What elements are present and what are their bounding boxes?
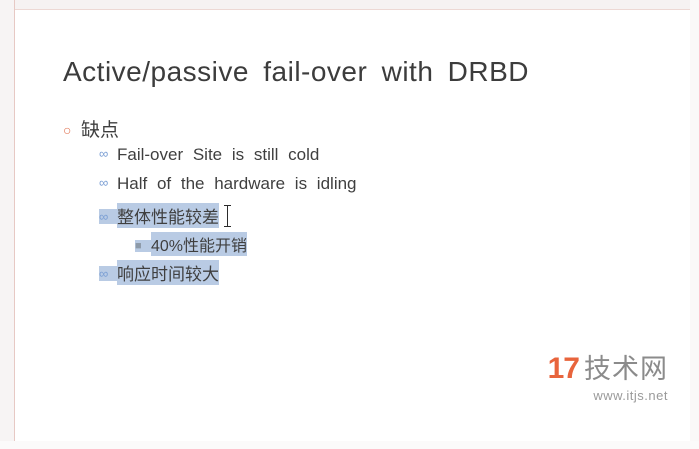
loop-bullet-icon: ∞ bbox=[99, 209, 117, 224]
list-item-selected[interactable]: ∞ 整体性能较差 bbox=[99, 203, 623, 232]
slide-screenshot: Active/passive fail-over with DRBD ○ 缺点 … bbox=[0, 0, 699, 449]
bullet-list[interactable]: ○ 缺点 ∞ Fail-over Site is still cold ∞ Ha… bbox=[63, 115, 623, 289]
loop-bullet-icon: ∞ bbox=[99, 146, 117, 161]
list-item-selected[interactable]: ■ 40%性能开销 bbox=[135, 232, 623, 260]
list-item-label: Fail-over Site is still cold bbox=[117, 145, 319, 165]
watermark: 17 技术网 www.itjs.net bbox=[548, 354, 668, 403]
watermark-logo: 17 bbox=[548, 354, 579, 384]
frame-edge-bottom bbox=[0, 441, 699, 449]
slide-canvas[interactable]: Active/passive fail-over with DRBD ○ 缺点 … bbox=[15, 10, 690, 441]
list-item-selected[interactable]: ∞ 响应时间较大 bbox=[99, 260, 623, 289]
list-item-label: 响应时间较大 bbox=[117, 260, 219, 285]
frame-edge-left bbox=[0, 0, 15, 449]
list-item-label: 整体性能较差 bbox=[117, 203, 219, 228]
slide-title: Active/passive fail-over with DRBD bbox=[63, 56, 529, 88]
frame-edge-right bbox=[690, 0, 699, 449]
list-item[interactable]: ∞ Fail-over Site is still cold bbox=[99, 145, 623, 174]
list-item[interactable]: ○ 缺点 bbox=[63, 115, 623, 145]
list-item-label: 40%性能开销 bbox=[151, 232, 247, 256]
square-bullet-icon: ■ bbox=[135, 240, 151, 252]
list-item-label: Half of the hardware is idling bbox=[117, 174, 357, 194]
ring-bullet-icon: ○ bbox=[63, 123, 81, 137]
frame-edge-top bbox=[0, 0, 699, 10]
loop-bullet-icon: ∞ bbox=[99, 175, 117, 190]
list-item[interactable]: ∞ Half of the hardware is idling bbox=[99, 174, 623, 203]
loop-bullet-icon: ∞ bbox=[99, 266, 117, 281]
watermark-text: 技术网 bbox=[584, 356, 668, 383]
text-cursor bbox=[227, 205, 228, 227]
watermark-url: www.itjs.net bbox=[548, 388, 668, 403]
list-item-label: 缺点 bbox=[81, 115, 119, 142]
